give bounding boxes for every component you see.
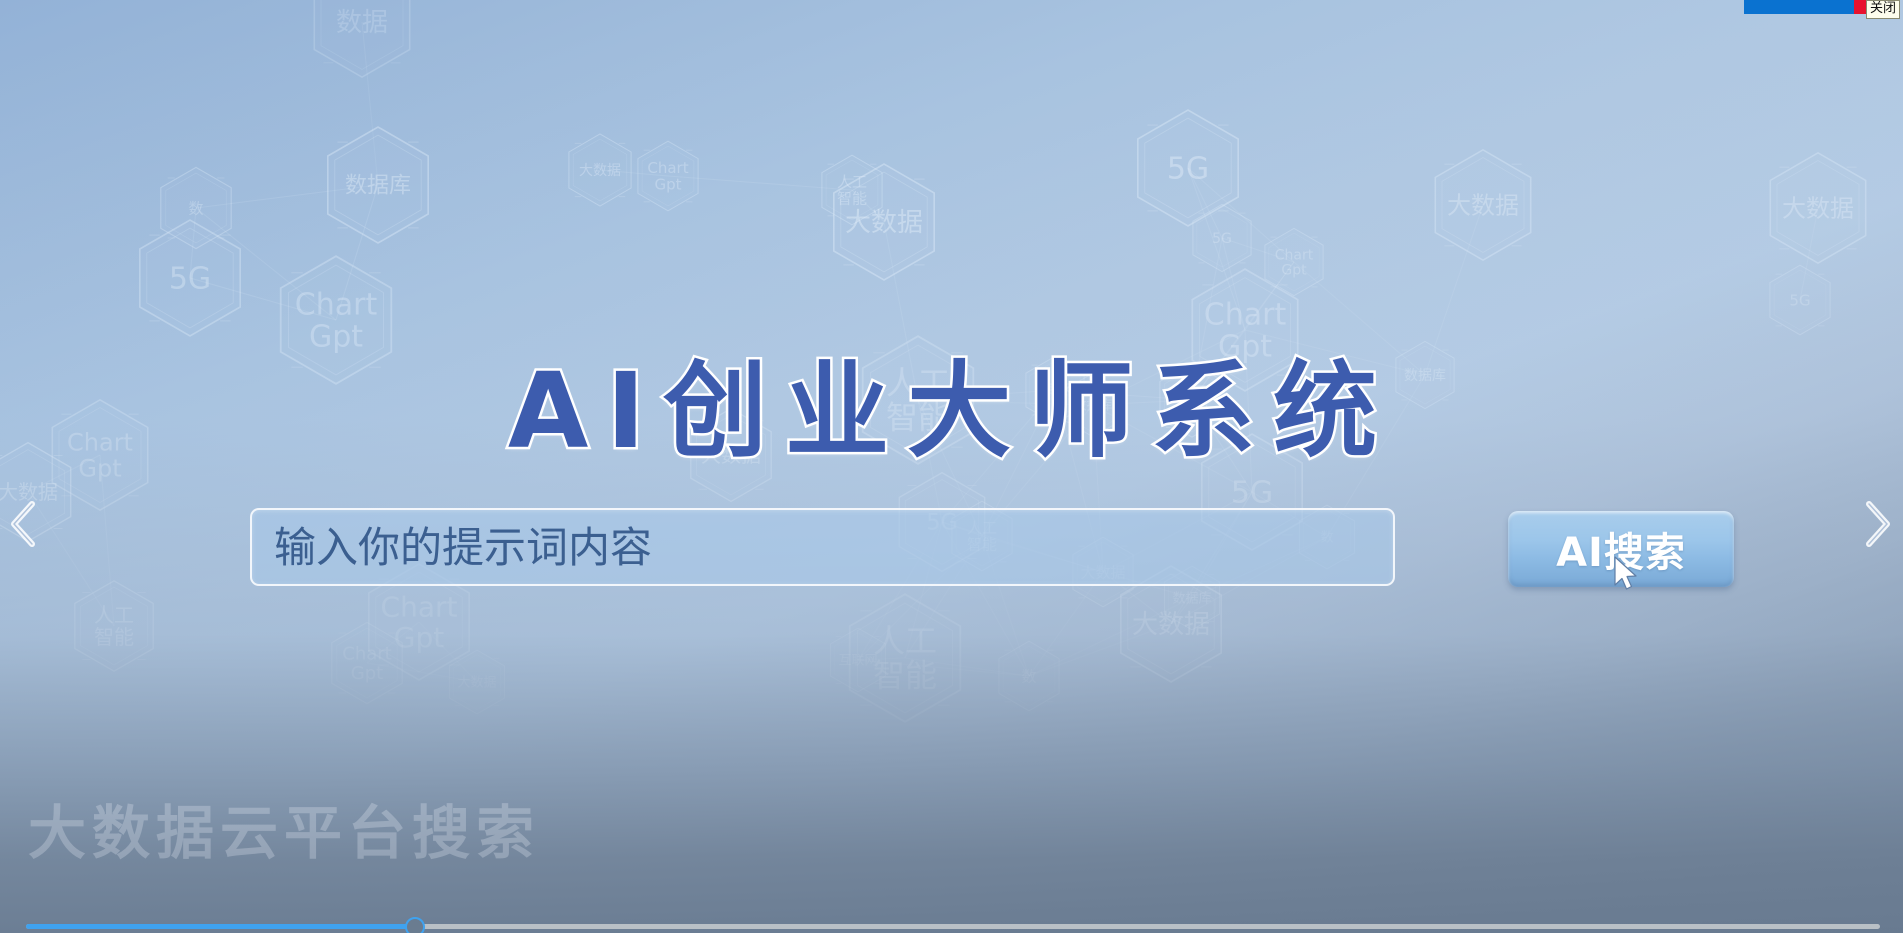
svg-text:Chart: Chart xyxy=(1275,247,1314,263)
svg-text:Chart: Chart xyxy=(295,287,378,322)
svg-text:大数据: 大数据 xyxy=(845,208,923,238)
hex-tag: 人工智能 xyxy=(75,581,153,671)
svg-text:Gpt: Gpt xyxy=(1281,263,1307,279)
svg-text:大数据: 大数据 xyxy=(1782,194,1854,222)
svg-text:智能: 智能 xyxy=(94,625,134,649)
hex-tag: 数 xyxy=(999,641,1059,711)
svg-text:大数据: 大数据 xyxy=(1447,191,1519,219)
svg-text:数据: 数据 xyxy=(336,8,388,38)
svg-text:大数据: 大数据 xyxy=(1132,610,1210,640)
hex-tag: 5G xyxy=(1770,265,1830,335)
ai-startup-master-app: 数据库ChartGpt5G数大数据ChartGpt大数据ChartGpt人工智能… xyxy=(0,0,1903,933)
hex-tag: 数据库 xyxy=(328,127,428,243)
chevron-left-glyph xyxy=(2,494,46,554)
hex-tag: 大数据 xyxy=(1770,153,1865,263)
progress-slider[interactable] xyxy=(26,918,1880,933)
taskbar-blue-bar[interactable] xyxy=(1744,0,1854,14)
svg-text:数据库: 数据库 xyxy=(345,174,411,199)
svg-text:5G: 5G xyxy=(1231,476,1273,511)
slider-fill xyxy=(26,924,415,929)
hex-tag: 数据 xyxy=(314,0,409,77)
hex-tag: 大数据 xyxy=(1435,150,1530,260)
svg-text:数: 数 xyxy=(1021,667,1036,685)
chevron-right-glyph xyxy=(1855,494,1899,554)
svg-text:5G: 5G xyxy=(1789,291,1810,309)
svg-text:互联网: 互联网 xyxy=(838,654,877,669)
svg-text:Gpt: Gpt xyxy=(654,175,681,193)
close-tooltip: 关闭 xyxy=(1866,0,1900,19)
ai-search-button[interactable]: AI搜索 xyxy=(1508,511,1734,587)
svg-text:Chart: Chart xyxy=(381,591,458,624)
svg-text:数: 数 xyxy=(188,199,203,217)
hex-tag: 大数据 xyxy=(569,134,631,206)
chevron-right-icon[interactable] xyxy=(1855,494,1899,554)
hex-tag: 大数据 xyxy=(449,650,504,714)
svg-text:Chart: Chart xyxy=(342,644,391,665)
page-title: AI创业大师系统 xyxy=(0,326,1903,477)
chevron-left-icon[interactable] xyxy=(2,494,46,554)
svg-text:大数据: 大数据 xyxy=(579,163,621,179)
svg-text:5G: 5G xyxy=(1167,152,1209,187)
svg-text:5G: 5G xyxy=(1212,231,1232,247)
svg-text:Gpt: Gpt xyxy=(351,663,383,684)
svg-text:大数据: 大数据 xyxy=(457,676,496,691)
search-input[interactable] xyxy=(250,508,1395,586)
slider-handle[interactable] xyxy=(405,917,425,933)
hex-tag: ChartGpt xyxy=(638,141,698,211)
svg-text:5G: 5G xyxy=(169,262,211,297)
svg-text:人工: 人工 xyxy=(94,603,134,627)
search-row: AI搜索 xyxy=(0,508,1903,594)
